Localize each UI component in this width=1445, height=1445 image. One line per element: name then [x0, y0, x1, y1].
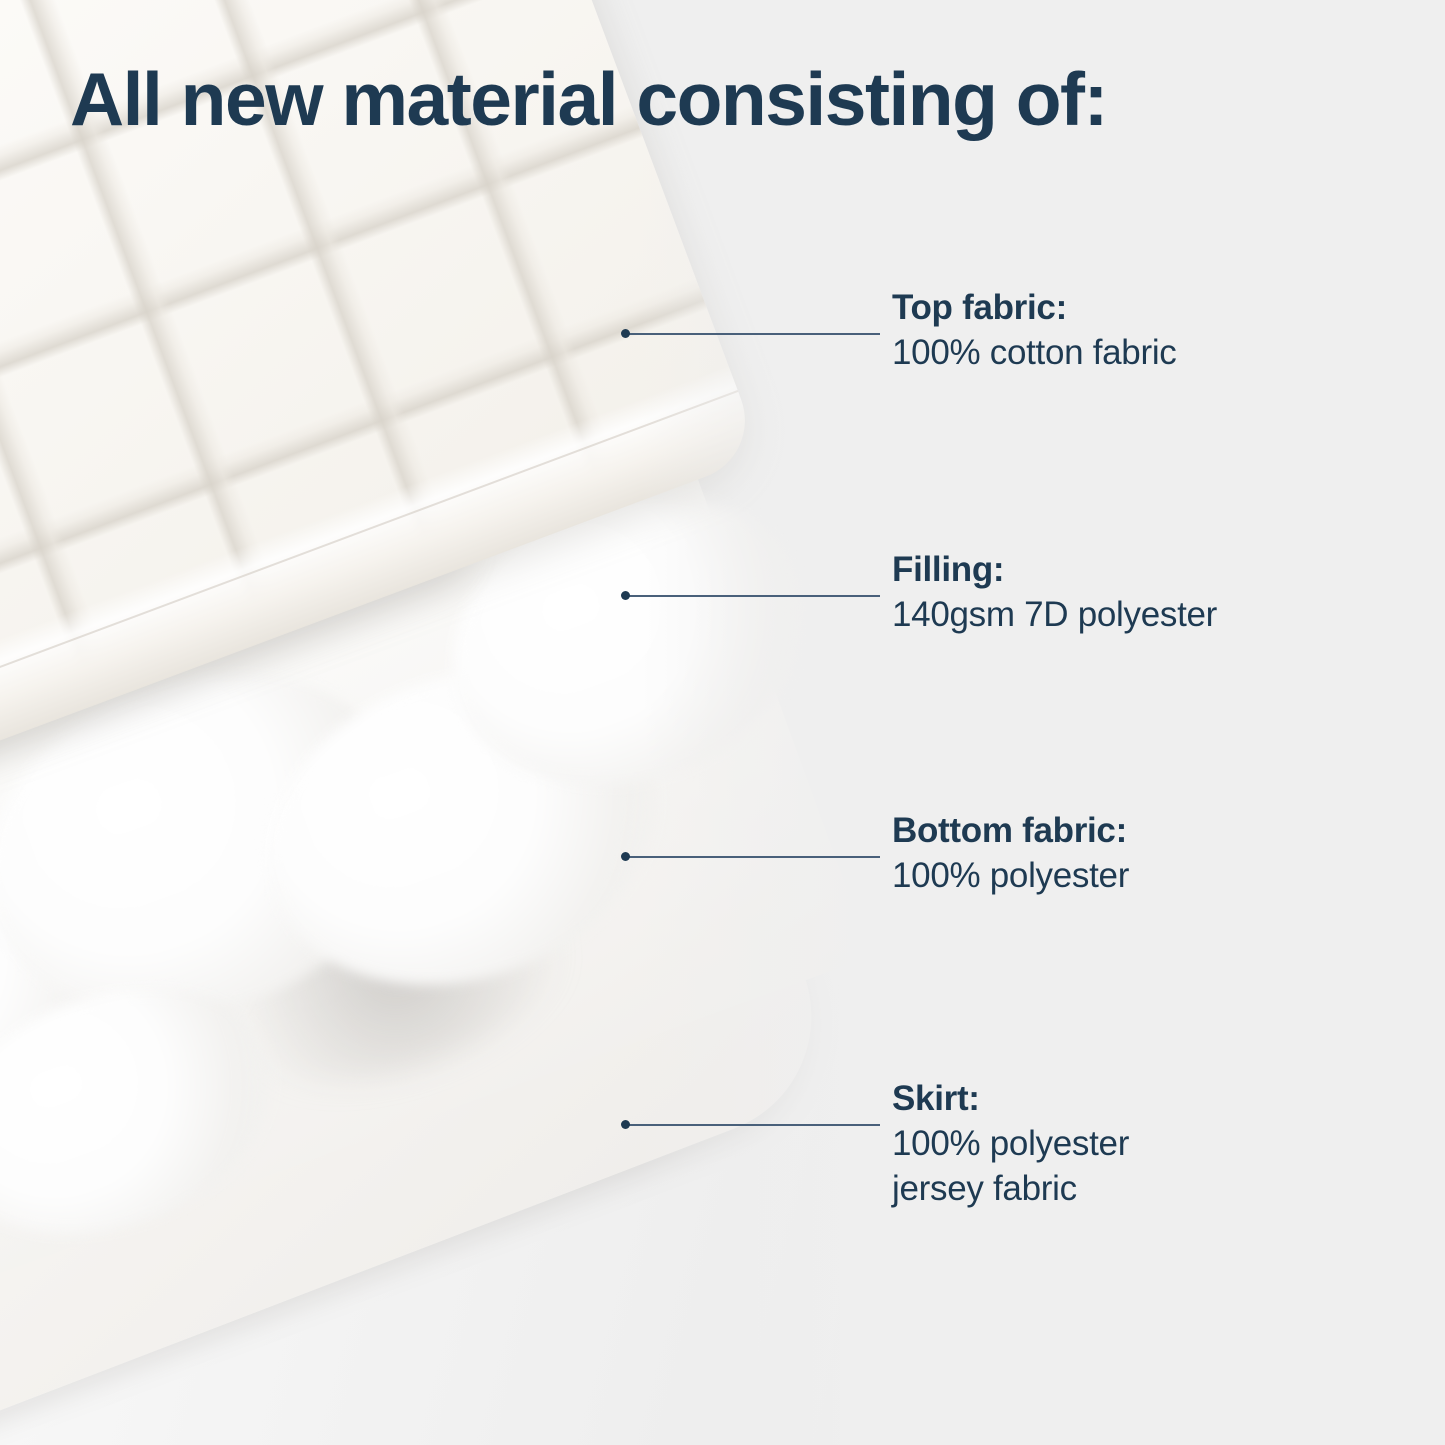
callout-label: Bottom fabric: 100% polyester — [892, 809, 1129, 899]
callout-title: Filling: — [892, 548, 1217, 593]
callout-label: Skirt: 100% polyester jersey fabric — [892, 1077, 1129, 1211]
leader-line — [623, 856, 880, 858]
infographic-canvas: All new material consisting of: Top fabr… — [0, 0, 1445, 1445]
callout-title: Skirt: — [892, 1077, 1129, 1122]
callout-label: Top fabric: 100% cotton fabric — [892, 286, 1177, 376]
leader-dot-icon — [621, 1120, 630, 1129]
leader-line — [623, 333, 880, 335]
callout-title: Bottom fabric: — [892, 809, 1129, 854]
callout-title: Top fabric: — [892, 286, 1177, 331]
photo-fade — [640, 0, 900, 1445]
product-photo — [0, 0, 900, 1445]
leader-dot-icon — [621, 591, 630, 600]
page-title: All new material consisting of: — [70, 58, 1107, 141]
callout-desc: 140gsm 7D polyester — [892, 593, 1217, 638]
leader-dot-icon — [621, 852, 630, 861]
leader-line — [623, 595, 880, 597]
leader-dot-icon — [621, 329, 630, 338]
leader-line — [623, 1124, 880, 1126]
callout-desc: 100% polyester — [892, 1122, 1129, 1167]
callout-desc: 100% cotton fabric — [892, 331, 1177, 376]
callout-label: Filling: 140gsm 7D polyester — [892, 548, 1217, 638]
callout-desc-line2: jersey fabric — [892, 1167, 1129, 1212]
callout-desc: 100% polyester — [892, 854, 1129, 899]
